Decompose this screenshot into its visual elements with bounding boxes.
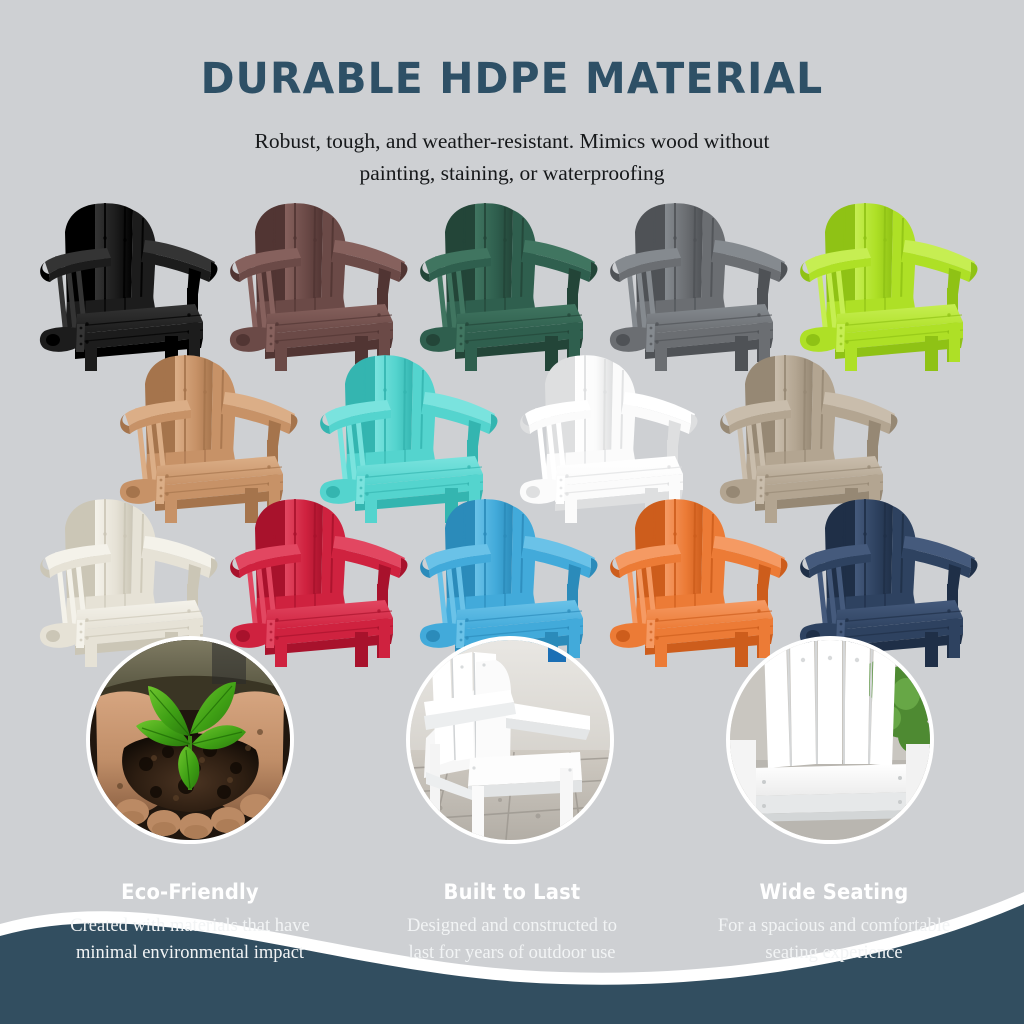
feature-image-wide-seating [726, 636, 934, 844]
hands-holding-seedling-photo [90, 640, 290, 840]
feature-image-built-to-last [406, 636, 614, 844]
feature-desc-line-2: seating experience [664, 940, 1004, 966]
adirondack-chair-brown: Brown [227, 196, 417, 371]
chair-swatch[interactable]: Dark Green [417, 196, 607, 371]
chair-swatch[interactable]: Lime Green [797, 196, 987, 371]
page-title: DURABLE HDPE MATERIAL [26, 0, 999, 101]
feature-title: Eco-Friendly [32, 880, 348, 904]
adirondack-chair-dark-green: Dark Green [417, 196, 607, 371]
feature-captions: Eco-Friendly Created with materials that… [0, 824, 1024, 1024]
adirondack-chair-gray: Gray [607, 196, 797, 371]
chair-swatch[interactable]: Gray [607, 196, 797, 371]
subtitle-line-1: Robust, tough, and weather-resistant. Mi… [152, 125, 872, 157]
subtitle-line-2: painting, staining, or waterproofing [152, 157, 872, 189]
feature-description: Created with materials that have minimal… [20, 913, 360, 966]
chair-swatch[interactable]: Black [37, 196, 227, 371]
white-chair-on-patio-photo [410, 640, 610, 840]
adirondack-chair-black: Black [37, 196, 227, 371]
feature-desc-line-2: minimal environmental impact [20, 940, 360, 966]
feature-description: For a spacious and comfortable seating e… [664, 913, 1004, 966]
header: DURABLE HDPE MATERIAL Robust, tough, and… [0, 0, 1024, 190]
feature-title: Built to Last [354, 880, 670, 904]
infographic-canvas: DURABLE HDPE MATERIAL Robust, tough, and… [0, 0, 1024, 1024]
feature-wide-seating: Wide Seating For a spacious and comforta… [664, 880, 1004, 966]
feature-title: Wide Seating [676, 880, 992, 904]
feature-image-eco-friendly [86, 636, 294, 844]
wide-chair-seat-closeup-photo [730, 640, 930, 840]
feature-built-to-last: Built to Last Designed and constructed t… [342, 880, 682, 966]
adirondack-chair-lime-green: Lime Green [797, 196, 987, 371]
feature-desc-line-2: last for years of outdoor use [342, 940, 682, 966]
feature-desc-line-1: Created with materials that have [20, 913, 360, 939]
feature-desc-line-1: Designed and constructed to [342, 913, 682, 939]
feature-desc-line-1: For a spacious and comfortable [664, 913, 1004, 939]
feature-description: Designed and constructed to last for yea… [342, 913, 682, 966]
subtitle: Robust, tough, and weather-resistant. Mi… [152, 125, 872, 190]
chair-swatch[interactable]: Brown [227, 196, 417, 371]
chair-row-1: Black [0, 196, 1024, 371]
feature-eco-friendly: Eco-Friendly Created with materials that… [20, 880, 360, 966]
